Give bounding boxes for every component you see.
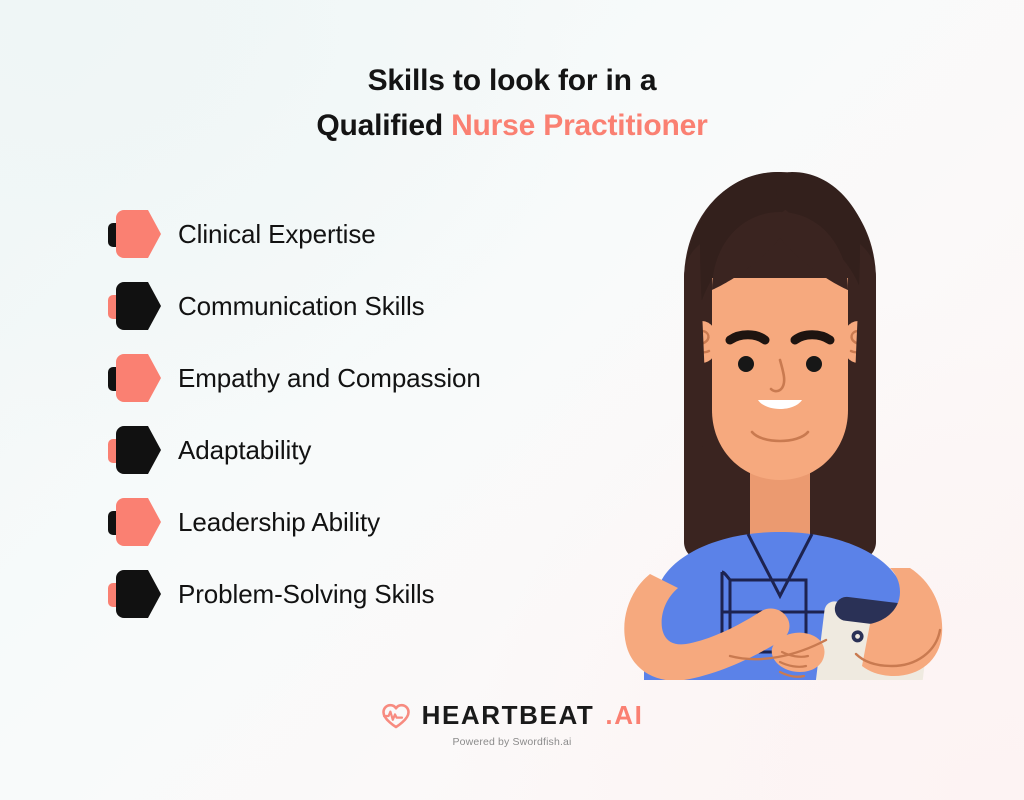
nurse-illustration — [580, 160, 980, 680]
heartbeat-heart-icon — [381, 703, 411, 729]
skills-list: Clinical Expertise Communication Skills … — [108, 210, 578, 642]
list-item: Problem-Solving Skills — [108, 570, 578, 618]
title-line-1: Skills to look for in a — [0, 58, 1024, 103]
arrow-bullet-icon — [108, 570, 164, 618]
title-line-2-plain: Qualified — [316, 109, 451, 142]
title-line-2-accent: Nurse Practitioner — [451, 109, 707, 142]
bullet-arrow-shape — [116, 210, 161, 258]
list-item: Communication Skills — [108, 282, 578, 330]
list-item-label: Problem-Solving Skills — [178, 579, 434, 610]
list-item-label: Adaptability — [178, 435, 311, 466]
logo-domain-suffix: .AI — [605, 700, 643, 731]
arrow-bullet-icon — [108, 210, 164, 258]
logo-wordmark: HEARTBEAT — [422, 700, 595, 731]
list-item-label: Clinical Expertise — [178, 219, 376, 250]
bullet-arrow-shape — [116, 282, 161, 330]
list-item-label: Leadership Ability — [178, 507, 380, 538]
bullet-arrow-shape — [116, 570, 161, 618]
logo-row: HEARTBEAT .AI — [381, 700, 644, 731]
brand-logo: HEARTBEAT .AI Powered by Swordfish.ai — [0, 700, 1024, 748]
list-item: Adaptability — [108, 426, 578, 474]
arrow-bullet-icon — [108, 282, 164, 330]
bullet-arrow-shape — [116, 426, 161, 474]
arrow-bullet-icon — [108, 426, 164, 474]
list-item: Clinical Expertise — [108, 210, 578, 258]
list-item: Leadership Ability — [108, 498, 578, 546]
title-line-2: Qualified Nurse Practitioner — [0, 103, 1024, 148]
list-item-label: Communication Skills — [178, 291, 425, 322]
page-title: Skills to look for in a Qualified Nurse … — [0, 58, 1024, 148]
arrow-bullet-icon — [108, 498, 164, 546]
infographic-poster: Skills to look for in a Qualified Nurse … — [0, 0, 1024, 800]
logo-tagline: Powered by Swordfish.ai — [452, 736, 571, 748]
list-item-label: Empathy and Compassion — [178, 363, 481, 394]
bullet-arrow-shape — [116, 498, 161, 546]
arrow-bullet-icon — [108, 354, 164, 402]
bullet-arrow-shape — [116, 354, 161, 402]
list-item: Empathy and Compassion — [108, 354, 578, 402]
